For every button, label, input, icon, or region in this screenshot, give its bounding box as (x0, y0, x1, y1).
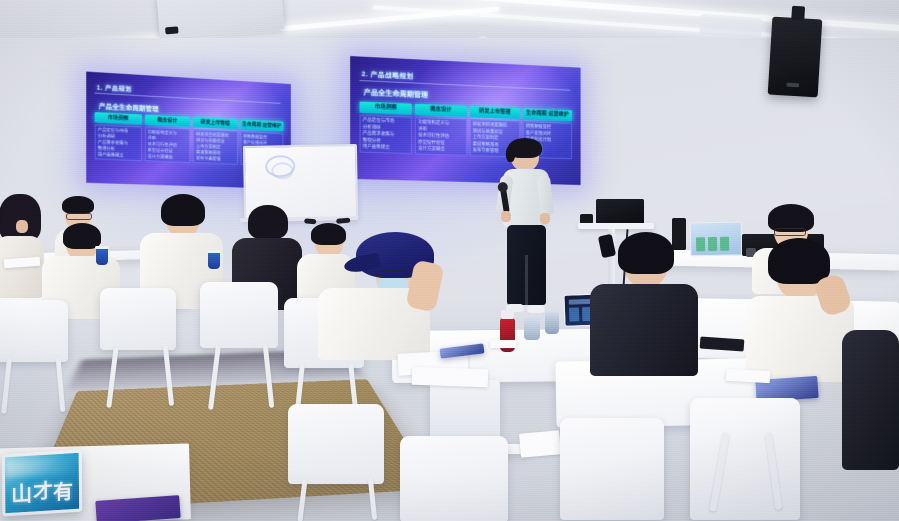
cup-lid (95, 246, 109, 249)
table-name-card: 山 才 有 (2, 450, 82, 517)
slide-column-body: 功能架构定义与 评审 技术可行性评估 原型设计验证 设计方案输出 (144, 127, 190, 163)
slide-title-left: 1. 产品规划 (97, 82, 132, 93)
slide-cell: 设计方案输出 (418, 145, 463, 153)
torso (842, 330, 899, 470)
air-vent (699, 14, 762, 38)
chair (288, 404, 384, 484)
person-hand-on-neck (746, 248, 856, 382)
slide-column-body: 研发项目进度跟踪 测试与质量验证 上市方案制定 渠道策略落地 发布节奏管理 (193, 129, 237, 165)
slide-subtitle-right: 产品全生命周期管理 (364, 87, 428, 100)
person-dark-right-edge (842, 330, 899, 470)
glasses-icon (378, 270, 410, 278)
slide-cell: 设计方案输出 (148, 153, 188, 161)
slide-column: 研发上市管理 研发项目进度跟踪 测试与质量验证 上市方案制定 渠道策略落地 发布… (193, 117, 237, 165)
slide-cell: 用户画像建立 (363, 143, 409, 151)
presenter-hair (508, 138, 542, 158)
slide-column-header: 概念设计 (144, 115, 190, 127)
person-woman-left (0, 198, 46, 308)
slide-subtitle-left: 产品全生命周期管理 (99, 100, 159, 113)
chair (100, 288, 176, 350)
drink-cup (208, 252, 220, 269)
av-monitor (596, 199, 644, 225)
slide-column: 市场洞察 产品定位与市场 分析调研 产品需求收集与 整理分析 用户画像建立 (360, 101, 413, 153)
cup-lid (207, 250, 221, 253)
laptop-ui-tile (708, 237, 717, 251)
hair (618, 232, 674, 274)
slide-column: 概念设计 功能架构定义与 评审 技术可行性评估 原型设计验证 设计方案输出 (144, 115, 190, 163)
whiteboard-scribble (271, 162, 293, 179)
person-navy-cap-mask (318, 228, 450, 360)
paper-sheet (519, 430, 561, 457)
glasses-icon (66, 213, 92, 220)
slide-column-header: 研发上市管理 (193, 117, 237, 129)
hair (248, 205, 288, 239)
slide-column-header: 市场洞察 (360, 101, 413, 114)
hair (161, 194, 205, 226)
projector-lens-icon (165, 26, 179, 34)
slide-column-body: 功能架构定义与 评审 技术可行性评估 原型设计验证 设计方案输出 (415, 117, 466, 156)
chair (690, 398, 800, 520)
torso (590, 284, 698, 376)
drink-cup (545, 312, 559, 334)
hair (62, 196, 94, 214)
glasses-icon (774, 228, 806, 236)
slide-column-header: 生命周期 运营维护 (240, 119, 283, 131)
marker-pen-icon (336, 218, 350, 224)
slide-column-body: 产品定位与市场 分析调研 产品需求收集与 整理分析 用户画像建立 (95, 124, 142, 161)
bottle-cap (501, 310, 514, 319)
slide-column-header: 概念设计 (415, 104, 466, 117)
slide-cell: 发布节奏管理 (196, 155, 234, 162)
presenter-trousers (507, 225, 546, 305)
laptop-ui-tile (720, 237, 729, 251)
classroom-photo: 1. 产品规划 产品全生命周期管理 市场洞察 产品定位与市场 分析调研 产品需求… (0, 0, 899, 521)
namecard-glyph-1: 山 (11, 478, 32, 509)
drink-cup (96, 248, 108, 265)
slide-column: 市场洞察 产品定位与市场 分析调研 产品需求收集与 整理分析 用户画像建立 (95, 112, 142, 161)
slide-column-body: 产品定位与市场 分析调研 产品需求收集与 整理分析 用户画像建立 (360, 115, 413, 154)
paper-sheet (490, 340, 516, 348)
paper-stack (412, 367, 489, 388)
chair (200, 282, 278, 348)
wall-speaker (768, 17, 823, 98)
paper-sheet (726, 369, 771, 383)
slide-column: 概念设计 功能架构定义与 评审 技术可行性评估 原型设计验证 设计方案输出 (415, 104, 466, 156)
namecard-glyph-2: 才 (33, 474, 53, 504)
chair (0, 300, 68, 362)
presenter-hand (540, 213, 550, 224)
slide-column-header: 研发上市管理 (469, 106, 519, 119)
hair (768, 238, 830, 284)
slide-cell: 用户画像建立 (98, 151, 139, 159)
slide-title-right: 2. 产品战略规划 (362, 68, 414, 81)
person-dark-shirt-center (590, 240, 700, 376)
slide-column-header: 市场洞察 (95, 112, 142, 124)
chair (400, 436, 508, 521)
av-shelf (578, 223, 654, 229)
drink-cup (524, 316, 540, 340)
presenter-shoe (527, 305, 545, 313)
slide-column-header: 生命周期 运营维护 (523, 108, 572, 121)
presenter-hand (501, 211, 511, 222)
hair (0, 194, 41, 242)
namecard-glyph-3: 有 (53, 475, 73, 505)
chair (560, 418, 664, 520)
tablet-ui-tile (569, 307, 579, 321)
presenter (498, 141, 556, 313)
hand (16, 220, 28, 233)
